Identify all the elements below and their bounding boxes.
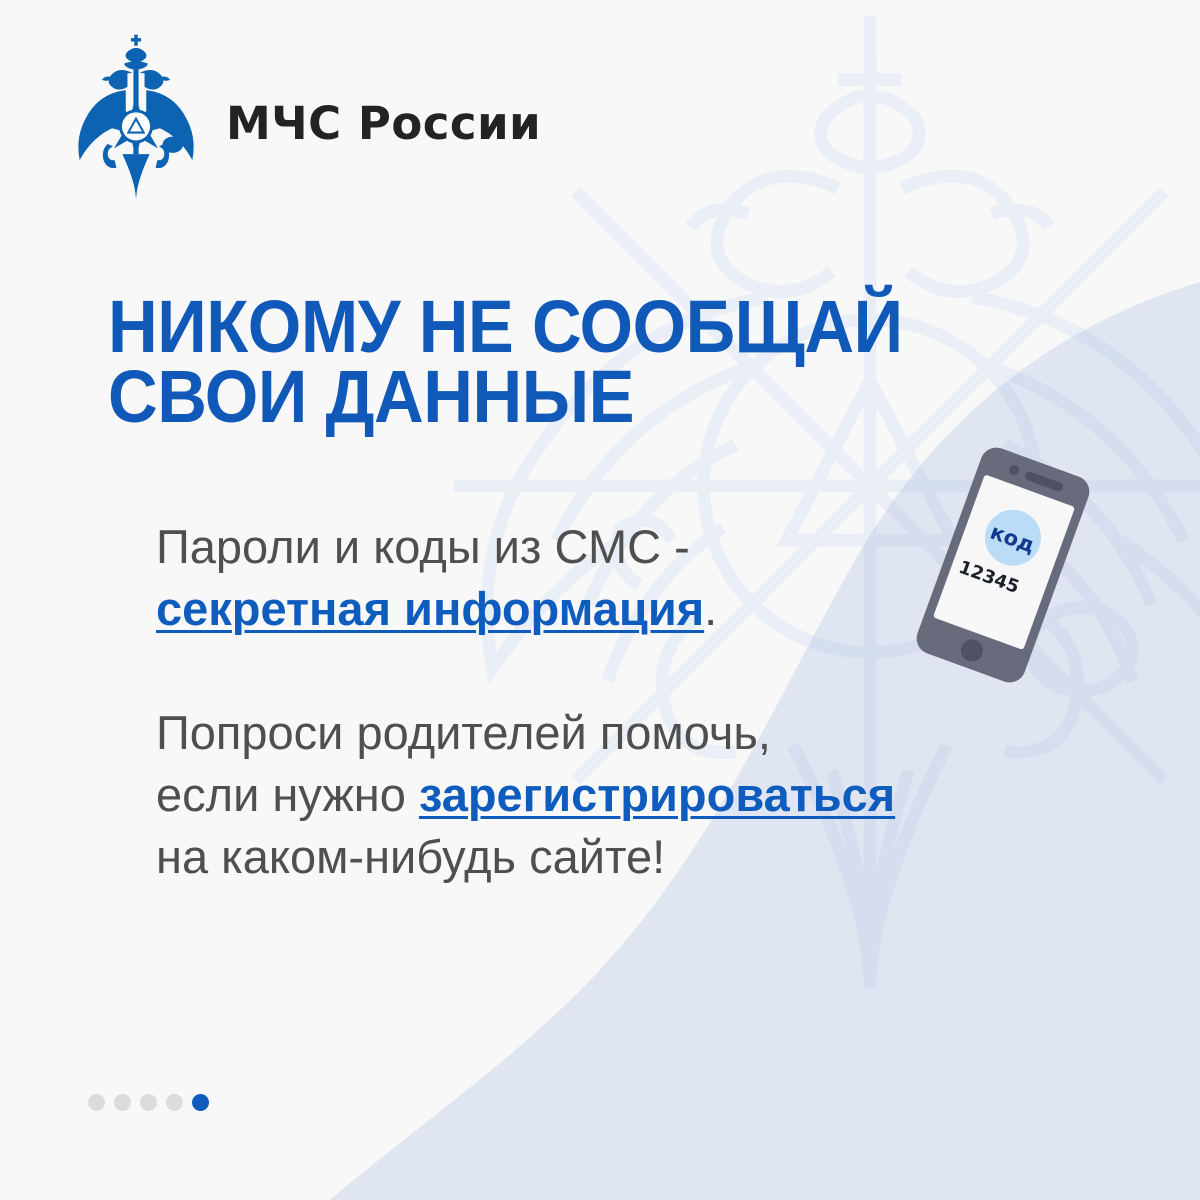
plain-text: на каком-нибудь сайте! <box>156 830 665 883</box>
paragraph-passwords: Пароли и коды из СМС - секретная информа… <box>156 516 1056 640</box>
brand-header: МЧС России <box>72 30 541 210</box>
paragraph-line: если нужно зарегистрироваться <box>156 764 1056 826</box>
body-copy: Пароли и коды из СМС - секретная информа… <box>156 516 1056 888</box>
carousel-dot-3[interactable] <box>140 1094 157 1111</box>
carousel-dot-4[interactable] <box>166 1094 183 1111</box>
plain-text: Попроси родителей помочь, <box>156 706 771 759</box>
paragraph-line: Пароли и коды из СМС - <box>156 516 1056 578</box>
headline-line-2: СВОИ ДАННЫЕ <box>108 362 945 432</box>
mchs-eagle-emblem-icon <box>72 30 200 210</box>
headline-line-1: НИКОМУ НЕ СООБЩАЙ <box>108 292 945 362</box>
plain-text: Пароли и коды из СМС - <box>156 520 690 573</box>
paragraph-line: Попроси родителей помочь, <box>156 702 1056 764</box>
carousel-dot-2[interactable] <box>114 1094 131 1111</box>
poster-canvas: МЧС России НИКОМУ НЕ СООБЩАЙ СВОИ ДАННЫЕ… <box>0 0 1200 1200</box>
paragraph-line: секретная информация. <box>156 578 1056 640</box>
plain-text: . <box>704 582 717 635</box>
emphasis-secret-info: секретная информация <box>156 582 704 635</box>
brand-title: МЧС России <box>226 97 541 150</box>
plain-text: если нужно <box>156 768 419 821</box>
paragraph-line: на каком-нибудь сайте! <box>156 826 1056 888</box>
carousel-dot-1[interactable] <box>88 1094 105 1111</box>
carousel-dot-5[interactable] <box>192 1094 209 1111</box>
carousel-pagination[interactable] <box>88 1094 209 1111</box>
page-title: НИКОМУ НЕ СООБЩАЙ СВОИ ДАННЫЕ <box>108 292 945 431</box>
paragraph-ask-parents: Попроси родителей помочь, если нужно зар… <box>156 702 1056 888</box>
emphasis-register: зарегистрироваться <box>419 768 895 821</box>
